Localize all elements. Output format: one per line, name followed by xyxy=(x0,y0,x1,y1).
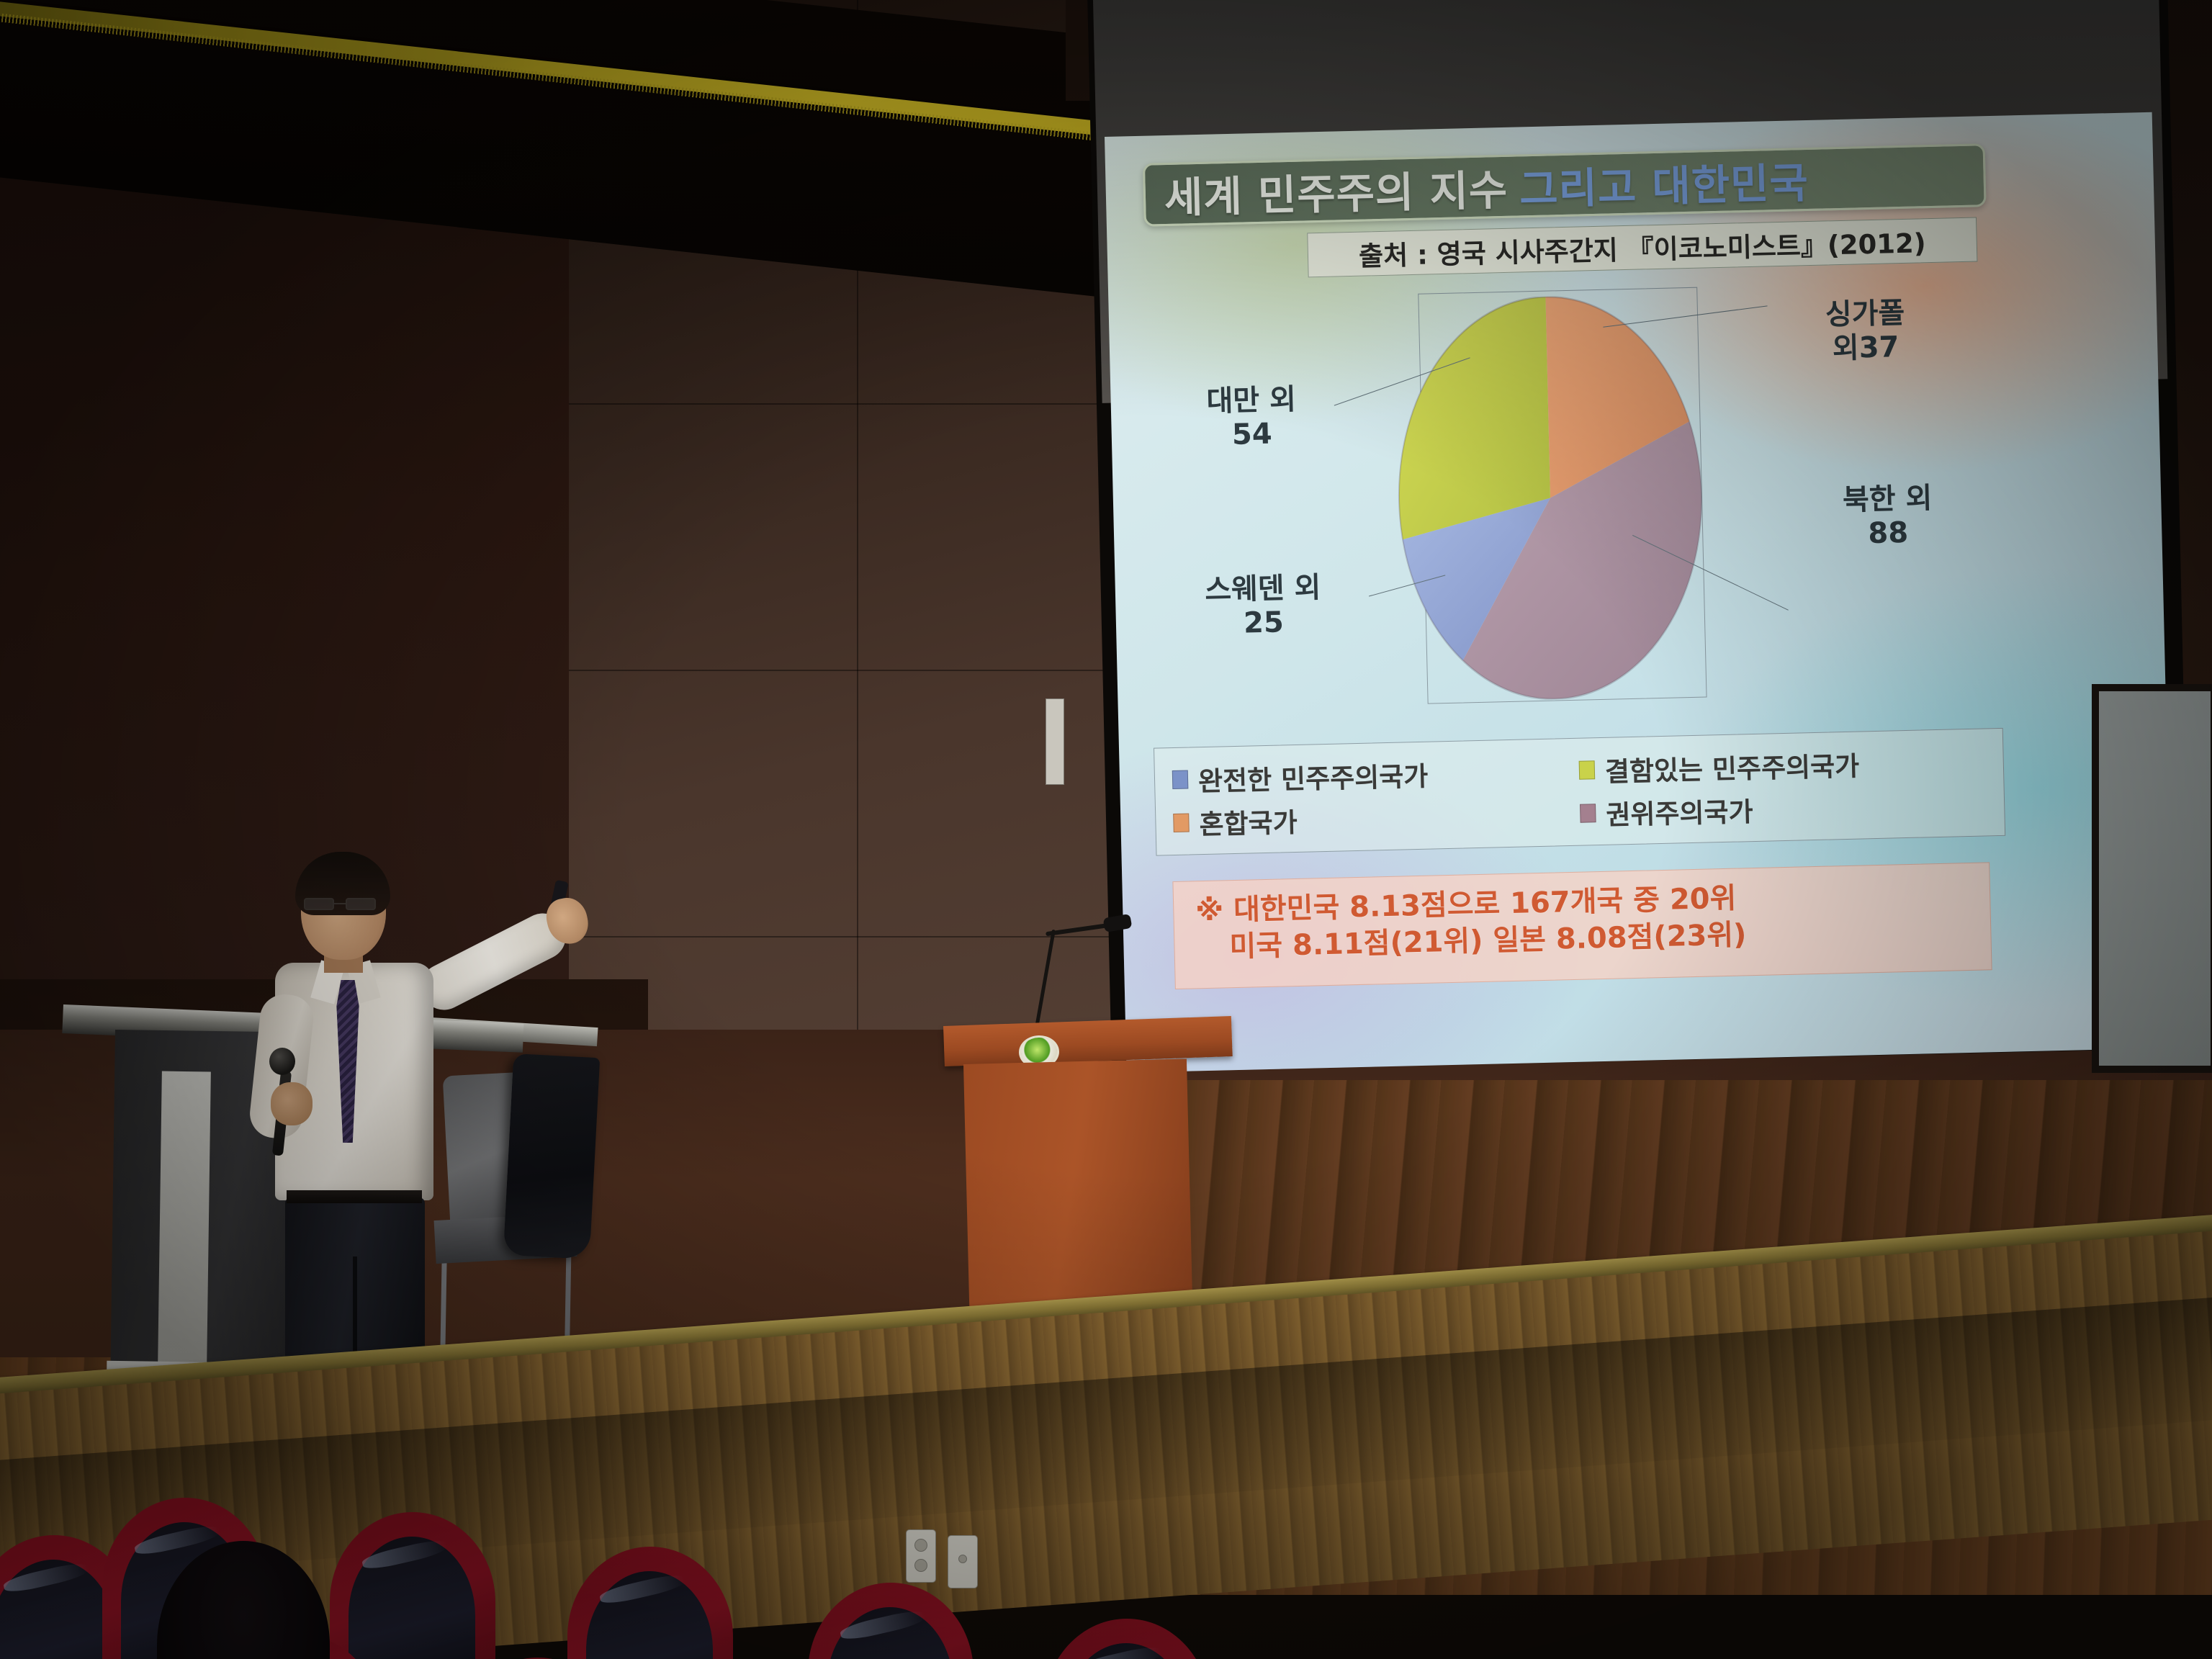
legend-swatch-orange xyxy=(1173,814,1190,833)
pie-svg xyxy=(1390,293,1709,703)
pie-label-nk: 북한 외 88 xyxy=(1790,480,1986,553)
presenter-mic-hand xyxy=(271,1082,313,1125)
presenter xyxy=(238,853,547,1401)
audience-seat xyxy=(808,1583,974,1659)
legend-item-flawed-democracy: 결함있는 민주주의국가 xyxy=(1578,741,1986,789)
lectern-accent-stripe xyxy=(158,1071,211,1367)
wall-switch-plate[interactable] xyxy=(1046,698,1064,785)
legend-swatch-yellow xyxy=(1579,760,1596,780)
legend-item-hybrid: 혼합국가 xyxy=(1173,794,1581,842)
legend-swatch-mauve xyxy=(1580,804,1596,823)
pie-label-singapore: 싱가폴 외37 xyxy=(1764,295,1967,368)
handheld-microphone-head xyxy=(269,1048,295,1075)
side-whiteboard xyxy=(2092,684,2212,1073)
chart-legend: 완전한 민주주의국가 결함있는 민주주의국가 혼합국가 권위주의국가 xyxy=(1154,728,2005,856)
pie-label-sweden: 스웨덴 외 25 xyxy=(1158,570,1368,643)
legend-label-hybrid: 혼합국가 xyxy=(1199,801,1298,842)
legend-item-authoritarian: 권위주의국가 xyxy=(1580,784,1987,832)
pie-graphic xyxy=(1390,293,1709,703)
slide-note-box: ※ 대한민국 8.13점으로 167개국 중 20위 미국 8.11점(21위)… xyxy=(1172,862,1992,989)
slide-title-accent: 그리고 대한민국 xyxy=(1519,149,1809,216)
pie-slice-taiwan xyxy=(1394,297,1551,539)
slide-source-line: 출처 : 영국 시사주간지 『이코노미스트』(2012) xyxy=(1307,217,1977,278)
lecture-hall-scene: 세계 민주주의 지수 그리고 대한민국 출처 : 영국 시사주간지 『이코노미스… xyxy=(0,0,2212,1659)
legend-label-authoritarian: 권위주의국가 xyxy=(1606,790,1753,832)
projected-slide: 세계 민주주의 지수 그리고 대한민국 출처 : 영국 시사주간지 『이코노미스… xyxy=(1105,112,2174,1073)
pie-label-taiwan: 대만 외 54 xyxy=(1161,382,1342,454)
legend-item-full-democracy: 완전한 민주주의국가 xyxy=(1172,751,1579,799)
audience-seat xyxy=(567,1547,733,1659)
glasses-icon xyxy=(304,898,379,910)
presenter-belt xyxy=(287,1190,422,1203)
legend-swatch-blue xyxy=(1172,770,1189,790)
audience-seat xyxy=(1044,1619,1210,1659)
pie-chart: 싱가폴 외37 대만 외 54 스웨덴 외 25 북한 외 88 xyxy=(1108,264,2167,749)
slide-title-bar: 세계 민주주의 지수 그리고 대한민국 xyxy=(1143,143,1987,227)
legend-label-full-democracy: 완전한 민주주의국가 xyxy=(1197,755,1428,799)
legend-label-flawed-democracy: 결함있는 민주주의국가 xyxy=(1604,745,1859,789)
slide-title-main: 세계 민주주의 지수 xyxy=(1164,156,1509,225)
